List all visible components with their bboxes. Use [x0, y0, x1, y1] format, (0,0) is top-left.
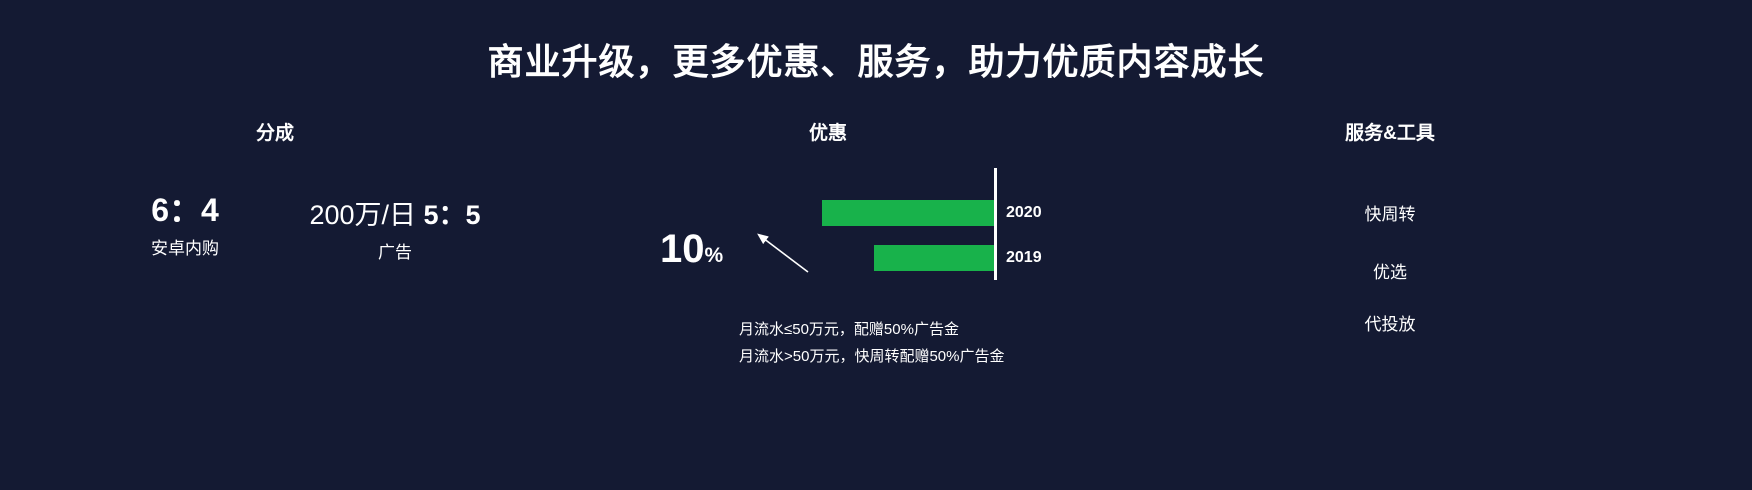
growth-percent-sign: %	[705, 244, 724, 267]
share-ratio-ads-line: 200万/日 5：5	[285, 193, 505, 232]
promotion-footnote-2: 月流水>50万元，快周转配赠50%广告金	[739, 345, 1004, 366]
service-item-2: 代投放	[1290, 310, 1490, 335]
bar-2020	[822, 200, 994, 226]
chart-axis-line	[994, 168, 997, 280]
service-item-1: 优选	[1290, 258, 1490, 283]
share-ratio-android: 6：4	[105, 193, 265, 228]
ads-ratio: 5：5	[424, 200, 481, 230]
bar-2019	[874, 245, 994, 271]
service-item-0: 快周转	[1290, 200, 1490, 225]
growth-percentage: 10%	[660, 229, 723, 269]
section-header-share: 分成	[190, 118, 360, 145]
slide-canvas: 商业升级，更多优惠、服务，助力优质内容成长 分成 优惠 服务&工具 6：4 安卓…	[0, 0, 1752, 490]
growth-bar-chart: 2020 2019	[700, 160, 1020, 290]
share-item-android: 6：4 安卓内购	[105, 193, 265, 259]
bar-label-2020: 2020	[1006, 204, 1042, 222]
promotion-footnote-1: 月流水≤50万元，配赠50%广告金	[739, 318, 959, 339]
ads-daily-amount: 200万/日	[309, 200, 416, 230]
section-header-services: 服务&工具	[1305, 118, 1475, 145]
bar-label-2019: 2019	[1006, 249, 1042, 267]
page-title: 商业升级，更多优惠、服务，助力优质内容成长	[0, 33, 1752, 85]
share-caption-android: 安卓内购	[105, 240, 265, 259]
share-item-ads: 200万/日 5：5 广告	[285, 193, 505, 263]
growth-number: 10	[660, 227, 705, 271]
section-header-promotion: 优惠	[743, 118, 913, 145]
share-caption-ads: 广告	[285, 244, 505, 263]
